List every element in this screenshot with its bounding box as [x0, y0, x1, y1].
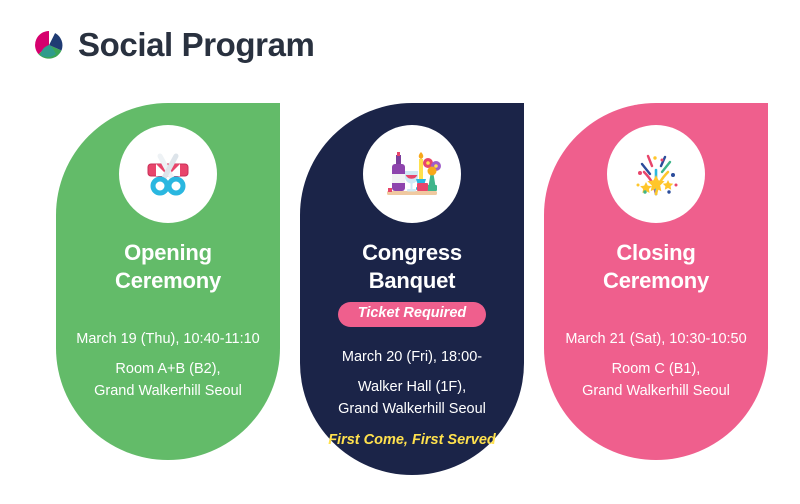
- card-venue: Room C (B1), Grand Walkerhill Seoul: [544, 359, 768, 403]
- card-opening-ceremony[interactable]: Opening Ceremony March 19 (Thu), 10:40-1…: [56, 103, 280, 460]
- card-venue-line: Grand Walkerhill Seoul: [56, 381, 280, 403]
- card-title: Opening Ceremony: [56, 239, 280, 294]
- card-title-line: Banquet: [369, 268, 456, 293]
- card-datetime: March 19 (Thu), 10:40-11:10: [56, 330, 280, 349]
- card-note: First Come, First Served: [300, 432, 524, 449]
- card-venue-line: Room A+B (B2),: [56, 359, 280, 381]
- card-title-line: Congress: [362, 240, 462, 265]
- card-title-line: Ceremony: [115, 268, 221, 293]
- card-closing-ceremony[interactable]: Closing Ceremony March 21 (Sat), 10:30-1…: [544, 103, 768, 460]
- banquet-wine-candle-flowers-icon: [363, 125, 461, 223]
- card-venue: Room A+B (B2), Grand Walkerhill Seoul: [56, 359, 280, 403]
- card-title-line: Opening: [124, 240, 212, 265]
- card-venue-line: Walker Hall (1F),: [300, 377, 524, 399]
- card-title: Congress Banquet: [300, 239, 524, 294]
- page-header: Social Program: [34, 28, 315, 61]
- card-title: Closing Ceremony: [544, 239, 768, 294]
- card-datetime: March 20 (Fri), 18:00-: [300, 348, 524, 367]
- card-venue-line: Grand Walkerhill Seoul: [300, 399, 524, 421]
- card-title-line: Closing: [616, 240, 695, 265]
- page-title: Social Program: [78, 28, 315, 61]
- card-venue: Walker Hall (1F), Grand Walkerhill Seoul: [300, 377, 524, 421]
- card-title-line: Ceremony: [603, 268, 709, 293]
- status-badge-ticket-required: Ticket Required: [338, 302, 487, 327]
- pie-logo-icon: [34, 30, 64, 60]
- fireworks-confetti-stars-icon: [607, 125, 705, 223]
- ribbon-cutting-scissors-icon: [119, 125, 217, 223]
- badge-container: Ticket Required: [300, 302, 524, 327]
- card-venue-line: Grand Walkerhill Seoul: [544, 381, 768, 403]
- social-program-cards: Opening Ceremony March 19 (Thu), 10:40-1…: [0, 103, 800, 475]
- card-congress-banquet[interactable]: Congress Banquet Ticket Required March 2…: [300, 103, 524, 475]
- card-venue-line: Room C (B1),: [544, 359, 768, 381]
- card-datetime: March 21 (Sat), 10:30-10:50: [544, 330, 768, 349]
